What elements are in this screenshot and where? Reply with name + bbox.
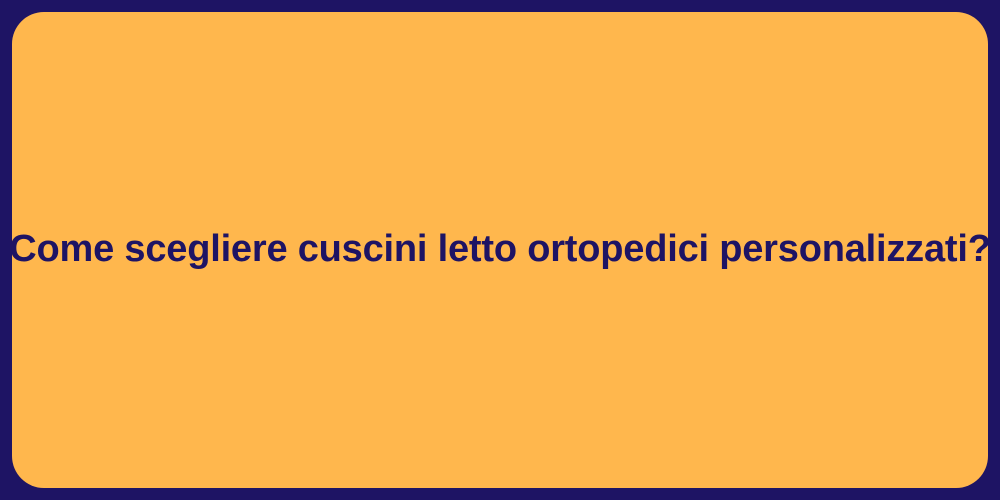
banner-title: Come scegliere cuscini letto ortopedici … bbox=[9, 226, 990, 274]
banner-card: Come scegliere cuscini letto ortopedici … bbox=[12, 12, 988, 488]
banner-frame: Come scegliere cuscini letto ortopedici … bbox=[0, 0, 1000, 500]
